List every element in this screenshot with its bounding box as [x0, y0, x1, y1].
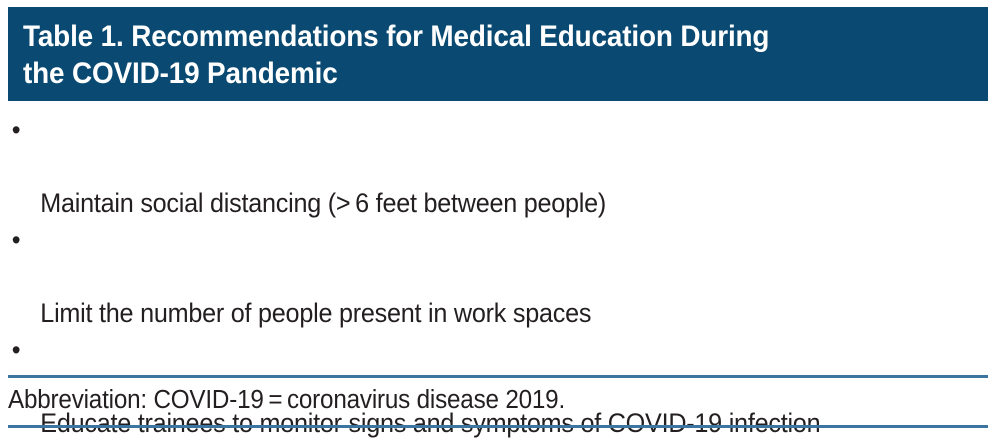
bullet-icon: •: [12, 112, 21, 149]
bullet-icon: •: [12, 222, 21, 259]
bullet-icon: •: [12, 332, 21, 369]
table-header-band: Table 1. Recommendations for Medical Edu…: [8, 7, 988, 101]
list-item-text: Limit the number of people present in wo…: [40, 298, 591, 328]
list-item: • Limit the number of people present in …: [8, 222, 939, 332]
list-item: • Maintain social distancing (> 6 feet b…: [8, 112, 939, 222]
table-title: Table 1. Recommendations for Medical Edu…: [23, 18, 920, 92]
table-figure: Table 1. Recommendations for Medical Edu…: [0, 0, 996, 441]
footnote-rule-top: [8, 375, 988, 378]
table-bottom-rule: [8, 425, 988, 428]
table-footnote: Abbreviation: COVID-19 = coronavirus dis…: [8, 382, 939, 418]
list-item-text: Maintain social distancing (> 6 feet bet…: [40, 188, 606, 218]
